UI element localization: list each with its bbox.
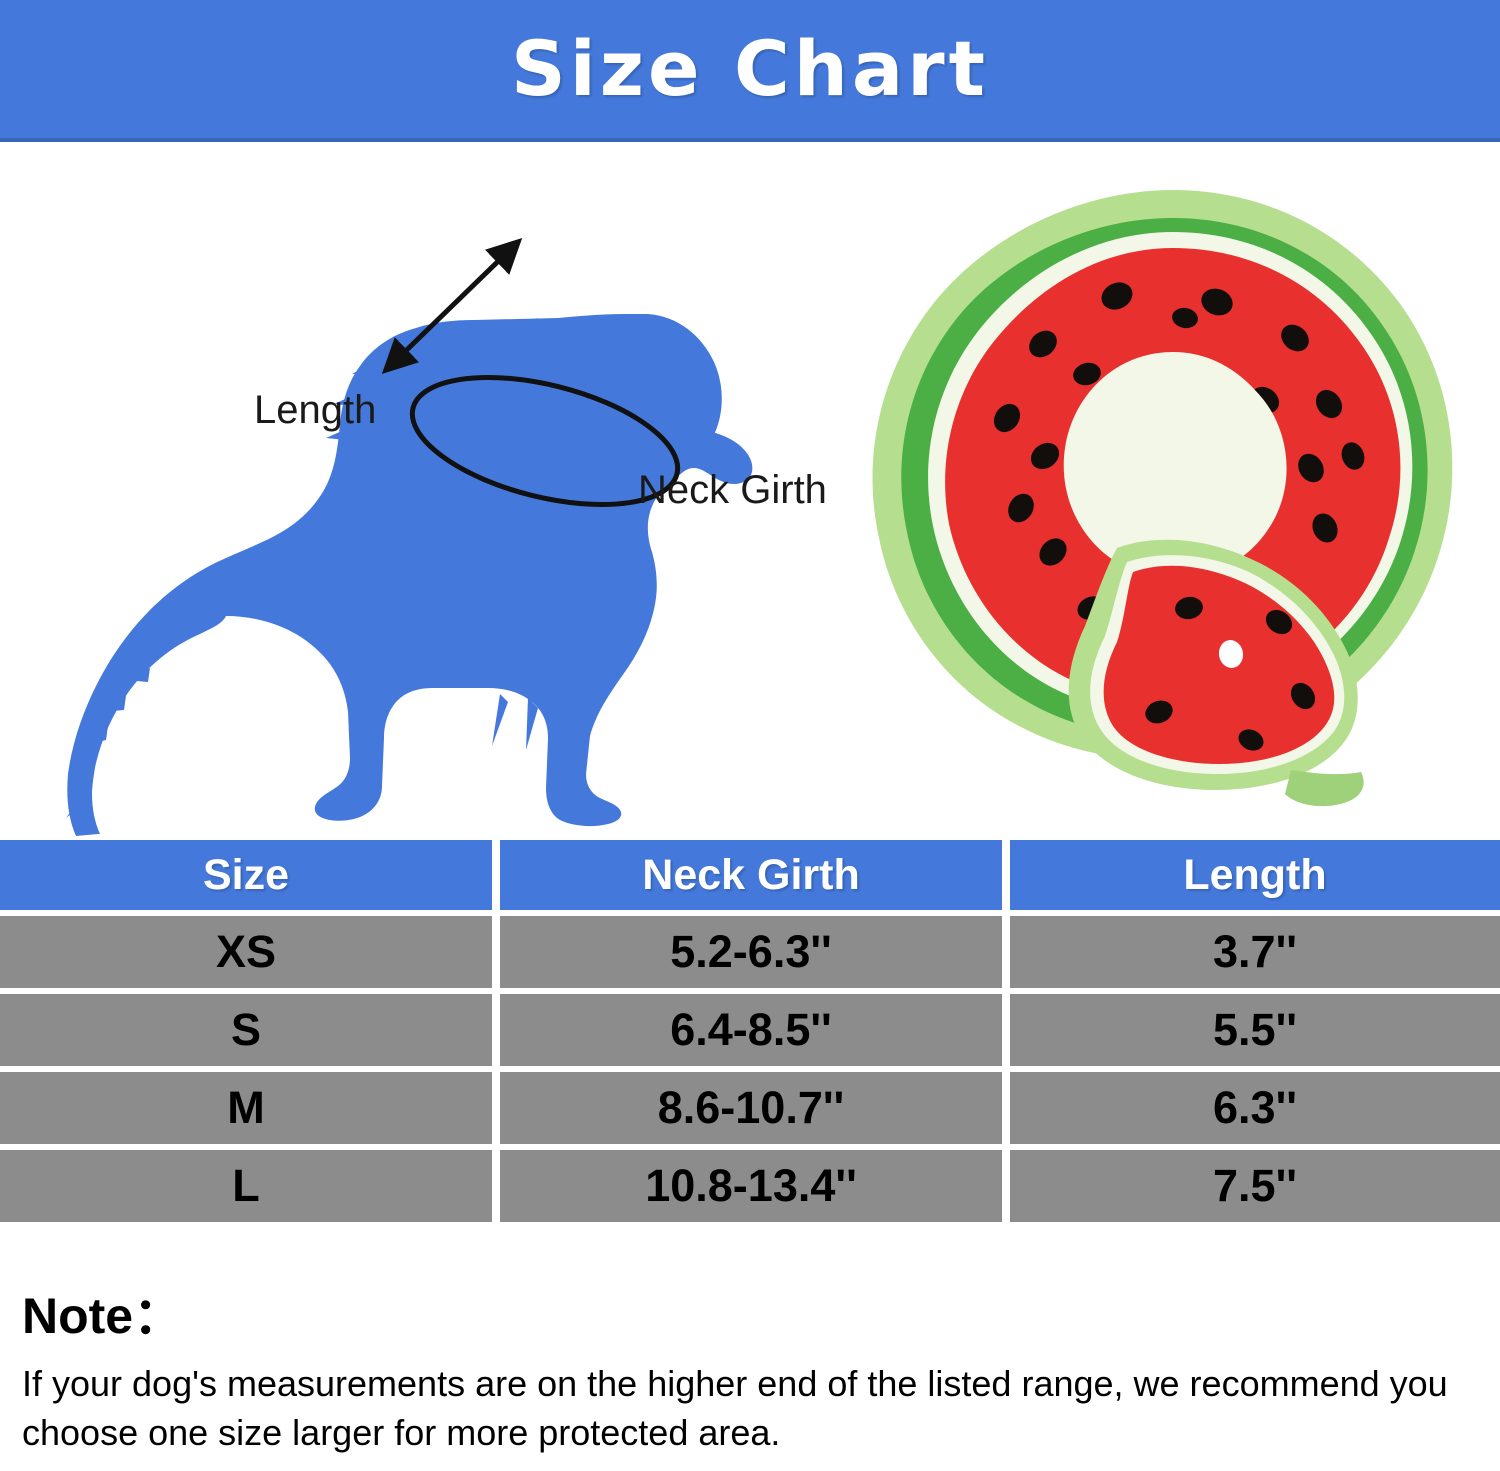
cell-neck-girth: 5.2-6.3'' — [500, 916, 1002, 988]
product-image — [855, 156, 1485, 836]
table-row: M 8.6-10.7'' 6.3'' — [0, 1072, 1500, 1144]
length-label: Length — [254, 388, 376, 433]
illustration-area: Length Neck Girth — [0, 146, 1500, 836]
cell-length: 6.3'' — [1010, 1072, 1500, 1144]
dog-measurement-diagram: Length Neck Girth — [30, 146, 860, 836]
note-heading: Note： — [22, 1290, 1482, 1343]
cell-length: 7.5'' — [1010, 1150, 1500, 1222]
watermelon-collar-icon — [855, 156, 1485, 836]
table-row: L 10.8-13.4'' 7.5'' — [0, 1150, 1500, 1222]
page-title: Size Chart — [511, 31, 989, 107]
cell-neck-girth: 10.8-13.4'' — [500, 1150, 1002, 1222]
header-banner: Size Chart — [0, 0, 1500, 142]
neck-girth-label: Neck Girth — [638, 468, 827, 513]
column-header-length: Length — [1010, 840, 1500, 910]
column-header-size: Size — [0, 840, 492, 910]
cell-size: XS — [0, 916, 492, 988]
cell-size: L — [0, 1150, 492, 1222]
collar-strap — [1285, 770, 1364, 806]
cell-length: 3.7'' — [1010, 916, 1500, 988]
cell-size: S — [0, 994, 492, 1066]
table-row: XS 5.2-6.3'' 3.7'' — [0, 916, 1500, 988]
table-row: S 6.4-8.5'' 5.5'' — [0, 994, 1500, 1066]
size-chart-table: Size Neck Girth Length XS 5.2-6.3'' 3.7'… — [0, 840, 1500, 1228]
cell-length: 5.5'' — [1010, 994, 1500, 1066]
cell-size: M — [0, 1072, 492, 1144]
cell-neck-girth: 8.6-10.7'' — [500, 1072, 1002, 1144]
cell-neck-girth: 6.4-8.5'' — [500, 994, 1002, 1066]
column-header-neck-girth: Neck Girth — [500, 840, 1002, 910]
table-header-row: Size Neck Girth Length — [0, 840, 1500, 910]
note-section: Note： If your dog's measurements are on … — [22, 1290, 1482, 1458]
note-body: If your dog's measurements are on the hi… — [22, 1359, 1482, 1458]
